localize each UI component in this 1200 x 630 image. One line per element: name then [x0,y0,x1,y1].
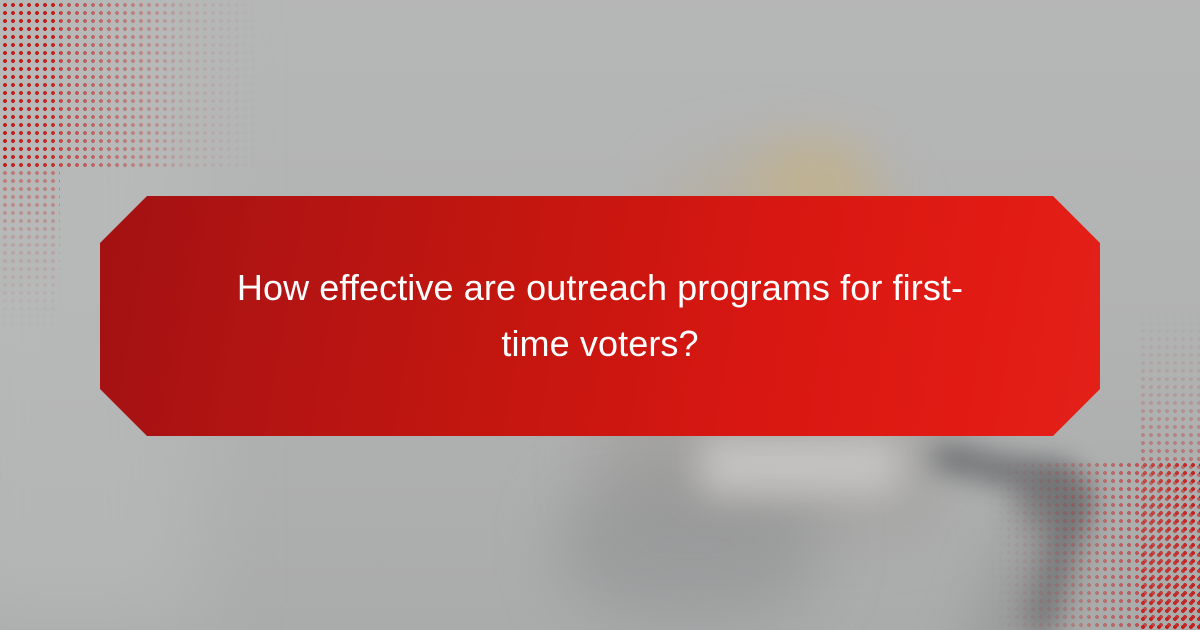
halftone-dots-top-left-vertical [0,0,60,330]
halftone-dots-bottom-right-horizontal [988,460,1200,630]
background-blur-shape-lid [700,435,900,495]
headline-banner: How effective are outreach programs for … [100,196,1100,436]
social-card-canvas: How effective are outreach programs for … [0,0,1200,630]
headline-text: How effective are outreach programs for … [230,260,970,372]
